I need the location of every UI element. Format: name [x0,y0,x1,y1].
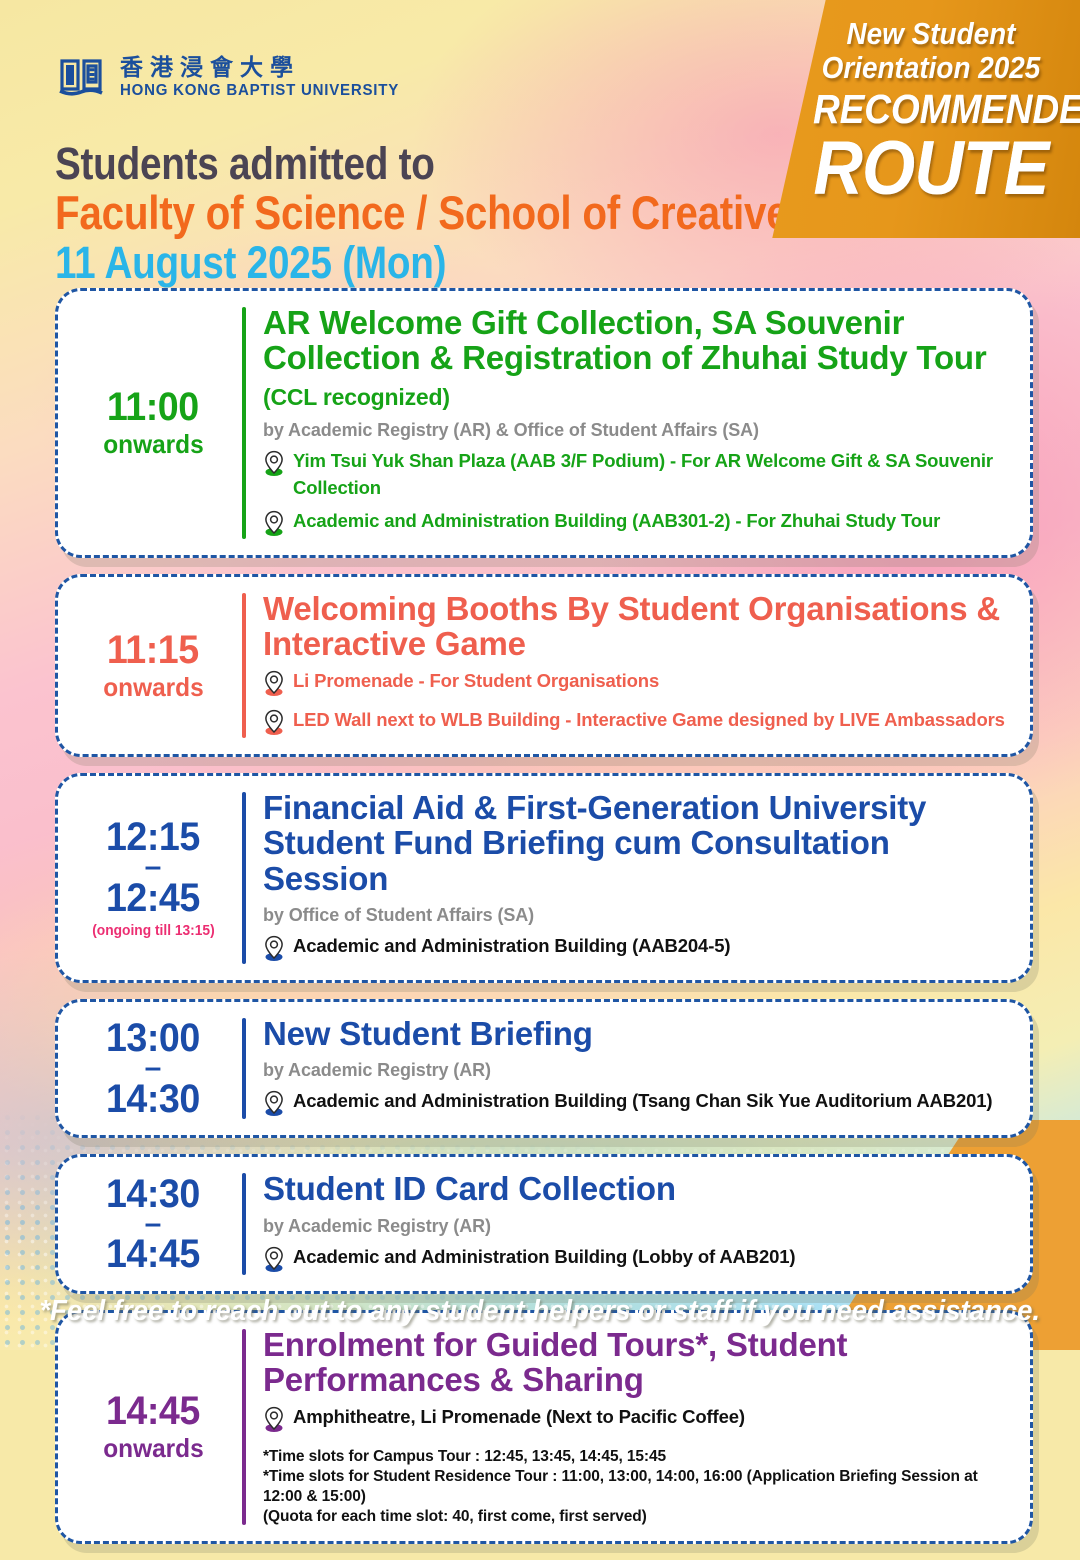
card-venue-label: LED Wall next to WLB Building - Interact… [293,707,1005,734]
card-body: AR Welcome Gift Collection, SA Souvenir … [246,305,1012,541]
card-venue: Academic and Administration Building (Lo… [263,1244,1012,1277]
card-time-start: 11:00 [107,387,199,427]
card-venue-list: Academic and Administration Building (Ts… [263,1088,1012,1121]
location-pin-icon [263,1246,285,1277]
card-venue-list: Li Promenade - For Student Organisations… [263,668,1012,740]
card-title: Student ID Card Collection [263,1171,1012,1206]
card-body: Student ID Card Collectionby Academic Re… [246,1171,1012,1276]
card-footnote: *Time slots for Campus Tour : 12:45, 13:… [263,1447,1012,1467]
headline-line-1: Students admitted to [55,140,878,188]
card-venue: Li Promenade - For Student Organisations [263,668,1012,701]
card-time-start: 11:15 [107,630,199,670]
schedule-card: 11:15onwardsWelcoming Booths By Student … [55,574,1033,758]
card-time-start: 14:45 [106,1391,200,1431]
card-organiser: by Academic Registry (AR) [263,1216,1012,1237]
card-time-column: 11:15onwards [74,591,242,741]
card-venue-list: Academic and Administration Building (AA… [263,933,1012,966]
card-time-end: 14:30 [106,1079,200,1119]
card-venue: Academic and Administration Building (AA… [263,508,1012,541]
card-time-column: 14:45onwards [74,1327,242,1527]
card-body: Welcoming Booths By Student Organisation… [246,591,1012,741]
card-time-column: 14:30–14:45 [74,1171,242,1276]
card-time-dash: – [145,1059,162,1078]
card-venue-label: Academic and Administration Building (AA… [293,933,730,960]
schedule-card: 12:15–12:45(ongoing till 13:15)Financial… [55,773,1033,983]
banner-line-3: RECOMMENDED [813,89,1049,130]
card-time-suffix: onwards [103,1434,204,1463]
card-footnotes: *Time slots for Campus Tour : 12:45, 13:… [263,1447,1012,1526]
hkbu-name-chinese: 香港浸會大學 [120,55,300,81]
schedule-card: 14:30–14:45Student ID Card Collectionby … [55,1154,1033,1293]
card-body: Financial Aid & First-Generation Univers… [246,790,1012,966]
card-venue: Amphitheatre, Li Promenade (Next to Paci… [263,1404,1012,1437]
location-pin-icon [263,670,285,701]
card-title: AR Welcome Gift Collection, SA Souvenir … [263,305,1012,411]
banner-line-2: Orientation 2025 [813,52,1049,83]
card-time-end: 12:45 [106,878,200,918]
card-time-start: 13:00 [106,1018,200,1058]
headline-line-3: 11 August 2025 (Mon) [55,238,878,288]
card-venue-label: Academic and Administration Building (AA… [293,508,940,535]
card-time-suffix: onwards [103,673,204,702]
card-title: Welcoming Booths By Student Organisation… [263,591,1012,662]
card-title: Financial Aid & First-Generation Univers… [263,790,1012,896]
location-pin-icon [263,450,285,481]
card-title-suffix: (CCL recognized) [263,384,450,410]
card-time-column: 12:15–12:45(ongoing till 13:15) [74,790,242,966]
card-time-note: (ongoing till 13:15) [92,923,214,939]
banner-line-1: New Student [813,18,1049,49]
card-body: New Student Briefingby Academic Registry… [246,1016,1012,1121]
location-pin-icon [263,1406,285,1437]
card-venue-label: Yim Tsui Yuk Shan Plaza (AAB 3/F Podium)… [293,448,1012,502]
banner-line-4: ROUTE [813,131,1049,207]
card-venue-label: Amphitheatre, Li Promenade (Next to Paci… [293,1404,745,1431]
card-time-end: 14:45 [106,1234,200,1274]
hkbu-logo: 香港浸會大學 HONG KONG BAPTIST UNIVERSITY [58,55,408,101]
card-venue: Yim Tsui Yuk Shan Plaza (AAB 3/F Podium)… [263,448,1012,502]
schedule-card: 13:00–14:30New Student Briefingby Academ… [55,999,1033,1138]
card-time-column: 11:00onwards [74,305,242,541]
card-title: New Student Briefing [263,1016,1012,1051]
card-organiser: by Office of Student Affairs (SA) [263,905,1012,926]
card-venue: Academic and Administration Building (AA… [263,933,1012,966]
hkbu-logo-wordmark: 香港浸會大學 HONG KONG BAPTIST UNIVERSITY [120,55,408,100]
open-book-icon [58,55,106,101]
card-organiser: by Academic Registry (AR) & Office of St… [263,420,1012,441]
card-organiser: by Academic Registry (AR) [263,1060,1012,1081]
footer-note: *Feel free to reach out to any student h… [40,1295,1041,1328]
card-venue-list: Yim Tsui Yuk Shan Plaza (AAB 3/F Podium)… [263,448,1012,541]
card-venue-list: Academic and Administration Building (Lo… [263,1244,1012,1277]
card-venue-list: Amphitheatre, Li Promenade (Next to Paci… [263,1404,1012,1437]
location-pin-icon [263,1090,285,1121]
card-time-dash: – [145,1215,162,1234]
schedule-card: 14:45onwardsEnrolment for Guided Tours*,… [55,1310,1033,1544]
card-venue: LED Wall next to WLB Building - Interact… [263,707,1012,740]
card-venue-label: Li Promenade - For Student Organisations [293,668,659,695]
location-pin-icon [263,709,285,740]
poster-footer: *Feel free to reach out to any student h… [0,1295,1080,1328]
card-footnote: (Quota for each time slot: 40, first com… [263,1507,1012,1527]
headline-line-2: Faculty of Science / School of Creative … [55,188,878,239]
card-time-start: 12:15 [106,817,200,857]
location-pin-icon [263,935,285,966]
card-venue: Academic and Administration Building (Ts… [263,1088,1012,1121]
card-footnote: *Time slots for Student Residence Tour :… [263,1467,1012,1507]
card-time-dash: – [145,858,162,877]
card-venue-label: Academic and Administration Building (Ts… [293,1088,992,1115]
card-body: Enrolment for Guided Tours*, Student Per… [246,1327,1012,1527]
hkbu-name-english: HONG KONG BAPTIST UNIVERSITY [120,82,399,101]
card-venue-label: Academic and Administration Building (Lo… [293,1244,795,1271]
schedule-list: 11:00onwardsAR Welcome Gift Collection, … [55,288,1033,1560]
card-time-column: 13:00–14:30 [74,1016,242,1121]
card-time-start: 14:30 [106,1174,200,1214]
card-title: Enrolment for Guided Tours*, Student Per… [263,1327,1012,1398]
schedule-card: 11:00onwardsAR Welcome Gift Collection, … [55,288,1033,558]
location-pin-icon [263,510,285,541]
card-time-suffix: onwards [103,430,204,459]
